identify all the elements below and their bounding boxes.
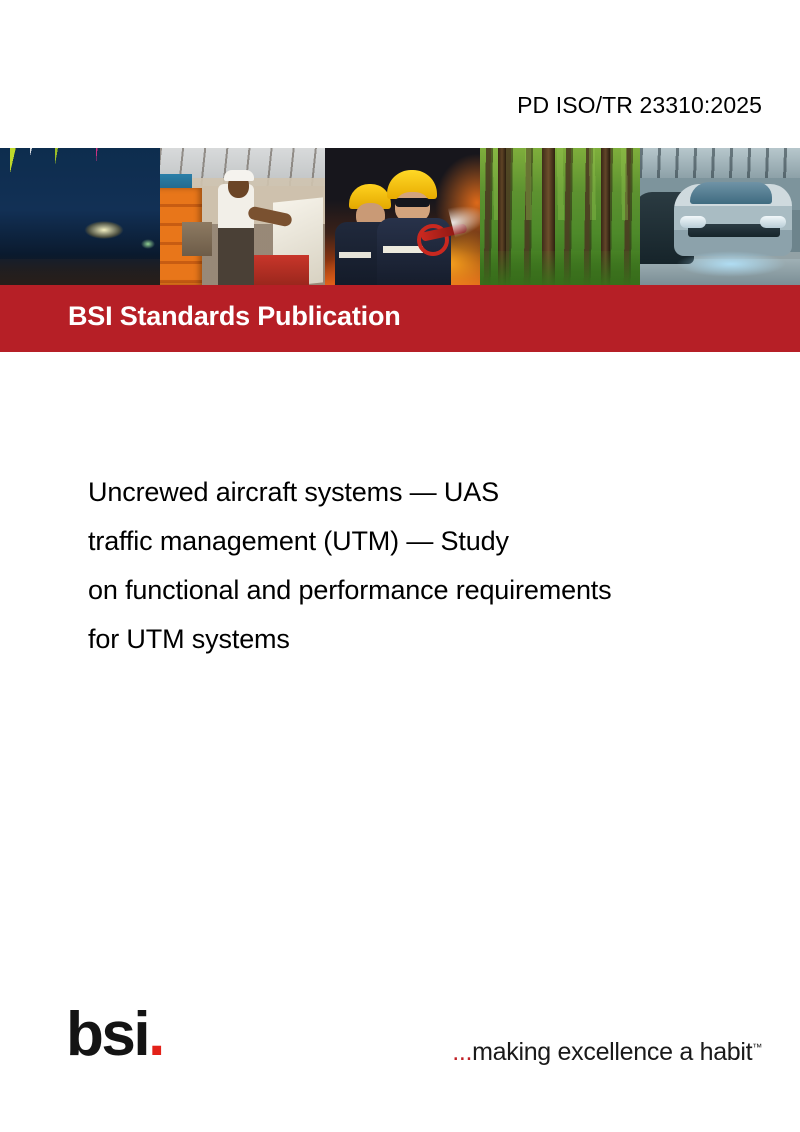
warehouse-worker-cap [224, 170, 254, 181]
tagline-text: making excellence a habit [472, 1038, 752, 1066]
title-line: for UTM systems [88, 615, 768, 664]
car-windshield [690, 182, 772, 204]
car-headlamp-right [760, 216, 786, 228]
assembly-overhead-rail [640, 148, 800, 178]
trademark-symbol: ™ [752, 1043, 762, 1054]
photo-panel-light-trails-night-traffic [0, 148, 160, 285]
car-underglow [676, 251, 786, 277]
cover-photo-strip [0, 148, 800, 285]
forest-trunk-center [542, 148, 555, 285]
bsi-tagline: ...making excellence a habit™ [452, 1038, 762, 1067]
bsi-logo-dot: . [148, 1000, 163, 1069]
warehouse-cart [182, 222, 212, 256]
firefighter-stripe-rear [339, 252, 371, 258]
title-line: on functional and performance requiremen… [88, 566, 768, 615]
document-number: PD ISO/TR 23310:2025 [517, 92, 762, 119]
photo-panel-car-assembly-line [640, 148, 800, 285]
forest-trunk-right [601, 148, 610, 285]
photo-panel-warehouse-worker-logistics [160, 148, 325, 285]
bsi-standards-banner: BSI Standards Publication [0, 285, 800, 352]
publication-title: Uncrewed aircraft systems — UAS traffic … [88, 468, 768, 664]
firefighter-stripe-front [383, 246, 423, 253]
title-line: Uncrewed aircraft systems — UAS [88, 468, 768, 517]
bsi-logo-text: bsi [66, 1000, 148, 1069]
bsi-logo: bsi. [66, 1004, 163, 1066]
car-headlamp-left [680, 216, 706, 228]
photo-panel-conifer-forest-trees [480, 148, 640, 285]
bsi-standards-banner-label: BSI Standards Publication [68, 301, 401, 332]
warehouse-red-bin [251, 255, 309, 285]
title-line: traffic management (UTM) — Study [88, 517, 768, 566]
firefighter-visor-front [395, 198, 430, 207]
tagline-ellipsis: ... [452, 1038, 472, 1066]
forest-trunk-left [498, 148, 506, 285]
photo-panel-firefighters-hose-flames [325, 148, 480, 285]
warehouse-worker-body [218, 184, 254, 285]
